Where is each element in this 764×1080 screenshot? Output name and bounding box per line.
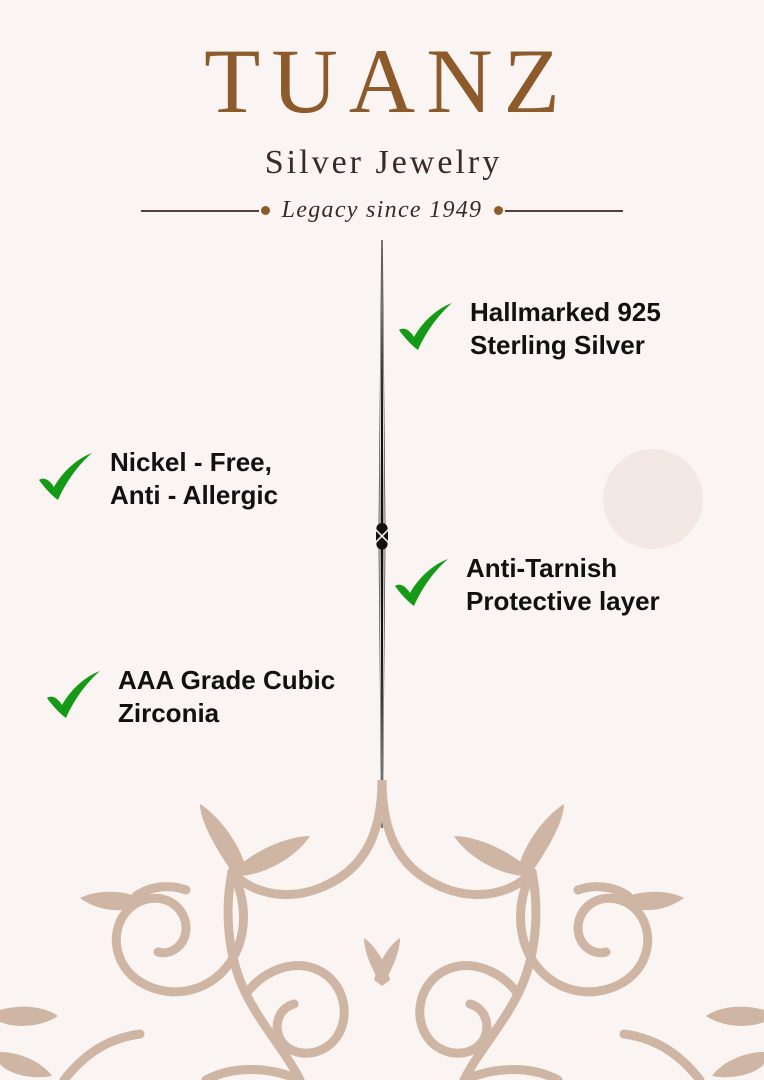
- brand-name: TUANZ: [0, 36, 764, 126]
- center-divider: [376, 240, 388, 828]
- accent-circle-decoration: [603, 449, 703, 549]
- legacy-rule-right: [505, 210, 623, 212]
- green-checkmark-icon: [392, 557, 454, 613]
- green-checkmark-icon: [396, 301, 458, 357]
- legacy-divider: Legacy since 1949: [0, 197, 764, 224]
- brand-tagline: Silver Jewelry: [0, 146, 764, 180]
- feature-item-hallmarked-925: Hallmarked 925 Sterling Silver: [396, 296, 661, 363]
- feature-item-anti-tarnish: Anti-Tarnish Protective layer: [392, 552, 660, 619]
- quatrefoil-ornament-icon: [376, 523, 388, 550]
- legacy-dot-right-icon: [494, 206, 503, 215]
- feature-label: Hallmarked 925 Sterling Silver: [470, 296, 661, 363]
- feature-item-nickel-free: Nickel - Free, Anti - Allergic: [36, 446, 278, 513]
- feature-label: Nickel - Free, Anti - Allergic: [110, 446, 278, 513]
- green-checkmark-icon: [36, 451, 98, 507]
- legacy-dot-left-icon: [261, 206, 270, 215]
- legacy-rule-left: [141, 210, 259, 212]
- green-checkmark-icon: [44, 669, 106, 725]
- feature-label: AAA Grade Cubic Zirconia: [118, 664, 335, 731]
- promotional-poster: TUANZ Silver Jewelry Legacy since 1949: [0, 0, 764, 1080]
- legacy-text: Legacy since 1949: [272, 197, 493, 224]
- feature-item-aaa-cubic-zirconia: AAA Grade Cubic Zirconia: [44, 664, 335, 731]
- feature-label: Anti-Tarnish Protective layer: [466, 552, 660, 619]
- brand-header: TUANZ Silver Jewelry Legacy since 1949: [0, 36, 764, 224]
